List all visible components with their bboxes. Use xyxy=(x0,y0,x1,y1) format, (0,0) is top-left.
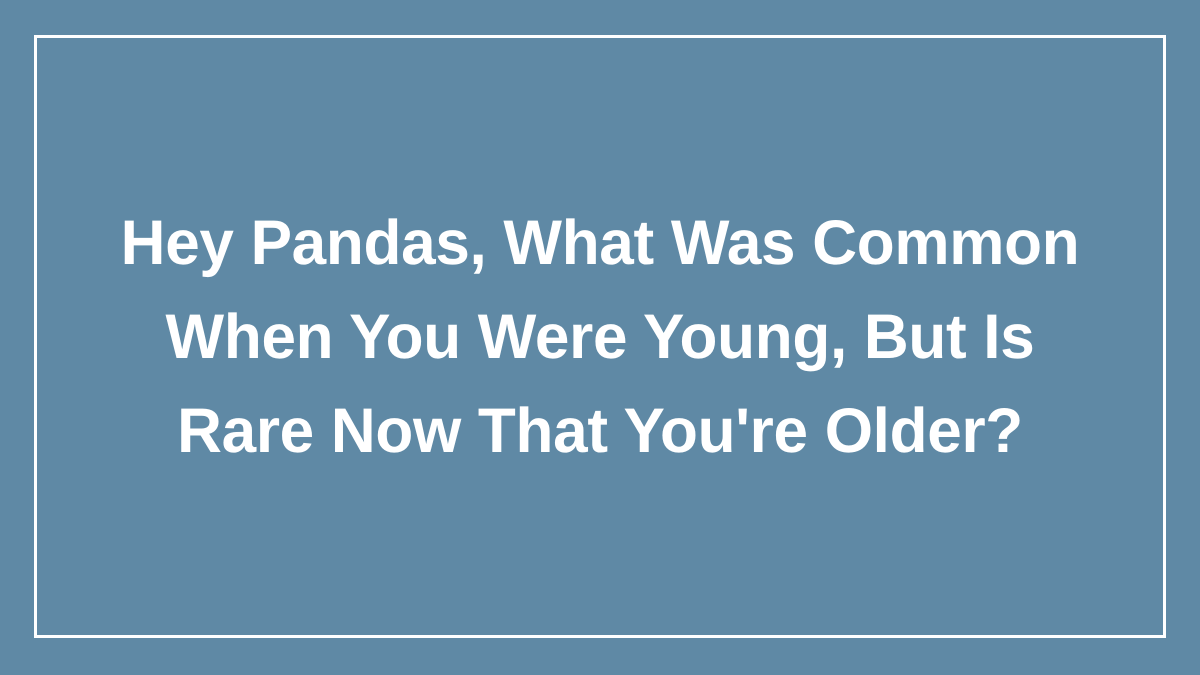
page-title: Hey Pandas, What Was Common When You Wer… xyxy=(58,196,1142,478)
headline-line-3: Rare Now That You're Older? xyxy=(66,384,1134,478)
title-card: Hey Pandas, What Was Common When You Wer… xyxy=(0,0,1200,675)
headline-line-1: Hey Pandas, What Was Common xyxy=(66,196,1134,290)
headline-line-2: When You Were Young, But Is xyxy=(66,290,1134,384)
headline-container: Hey Pandas, What Was Common When You Wer… xyxy=(34,35,1166,638)
